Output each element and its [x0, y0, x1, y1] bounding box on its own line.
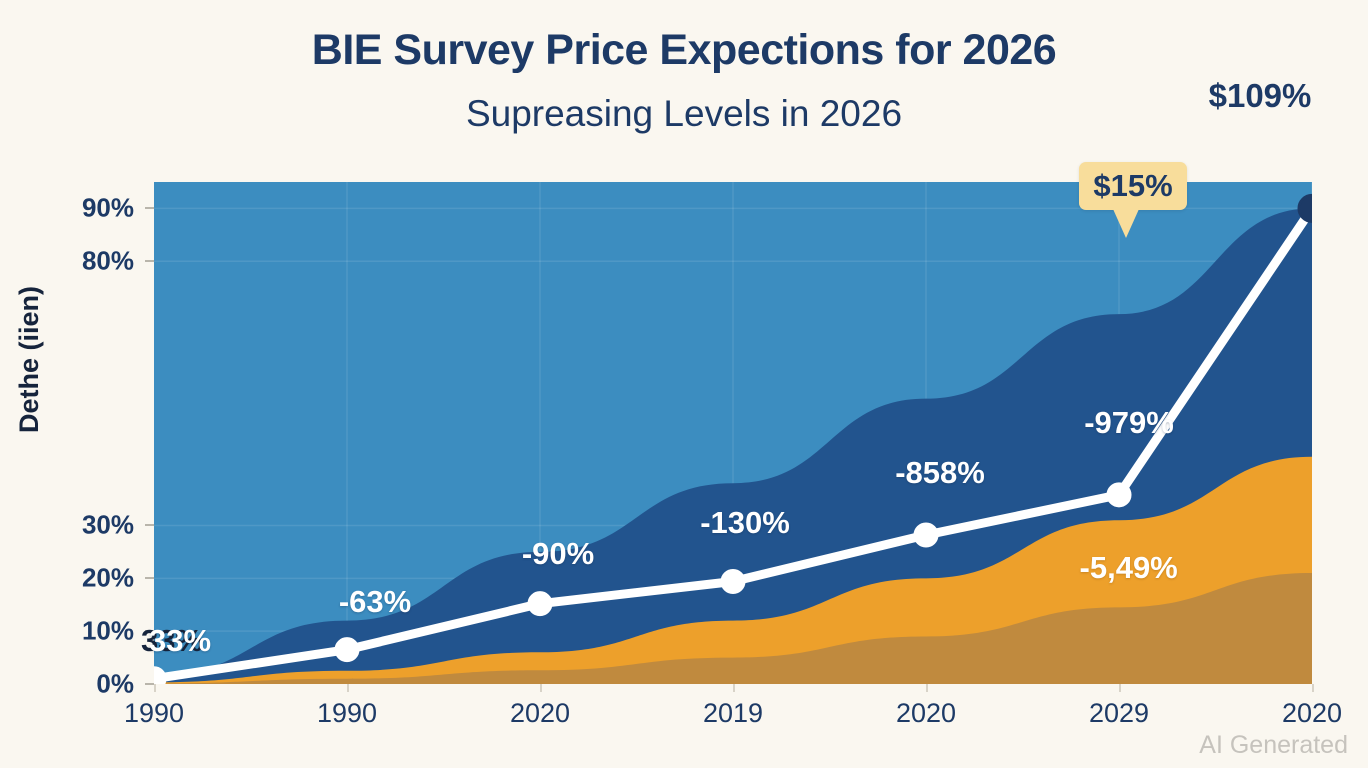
x-axis-tick-label: 1990: [247, 698, 447, 729]
data-point-label: -979%: [1084, 405, 1174, 441]
y-axis-tick-label: 0%: [14, 669, 134, 700]
y-axis-tick-mark: [145, 260, 154, 262]
y-axis-tick-mark: [145, 207, 154, 209]
y-axis-tick-mark: [145, 683, 154, 685]
data-point-label: -63%: [339, 584, 411, 620]
x-axis-tick-mark: [154, 684, 156, 692]
x-axis-tick-mark: [1312, 684, 1314, 692]
x-axis-tick-mark: [347, 684, 349, 692]
y-axis-tick-label: 20%: [14, 563, 134, 594]
callout-tail-icon: [1113, 209, 1139, 238]
data-point-label-overlap: 33%: [149, 623, 211, 659]
data-point-label: -130%: [700, 505, 790, 541]
x-axis-tick-mark: [926, 684, 928, 692]
x-axis-tick-label: 2020: [1212, 698, 1368, 729]
watermark: AI Generated: [1199, 731, 1348, 760]
x-axis-tick-label: 1990: [54, 698, 254, 729]
data-point-label: -90%: [522, 536, 594, 572]
y-axis-tick-mark: [145, 577, 154, 579]
callout-label: $15%: [1093, 168, 1172, 204]
y-axis-tick-label: 90%: [14, 193, 134, 224]
chart-title: BIE Survey Price Expections for 2026: [0, 26, 1368, 75]
x-axis-tick-label: 2020: [440, 698, 640, 729]
area-series-label: -5,49%: [1080, 550, 1178, 586]
x-axis-tick-mark: [733, 684, 735, 692]
data-point-label: -858%: [895, 455, 985, 491]
x-axis-tick-label: 2020: [826, 698, 1026, 729]
chart-subtitle: Supreasing Levels in 2026: [0, 93, 1368, 135]
callout-tooltip[interactable]: $15%: [1079, 162, 1187, 210]
y-axis-tick-label: 30%: [14, 510, 134, 541]
chart-figure: BIE Survey Price Expections for 2026 Sup…: [0, 0, 1368, 768]
x-axis-tick-mark: [1119, 684, 1121, 692]
x-axis-tick-mark: [540, 684, 542, 692]
x-axis-tick-label: 2029: [1019, 698, 1219, 729]
data-point-label: $109%: [1209, 77, 1312, 115]
y-axis-tick-label: 80%: [14, 246, 134, 277]
x-axis-tick-label: 2019: [633, 698, 833, 729]
y-axis-tick-mark: [145, 524, 154, 526]
y-axis-label: Dethe (iien): [14, 286, 45, 433]
y-axis-tick-label: 10%: [14, 616, 134, 647]
